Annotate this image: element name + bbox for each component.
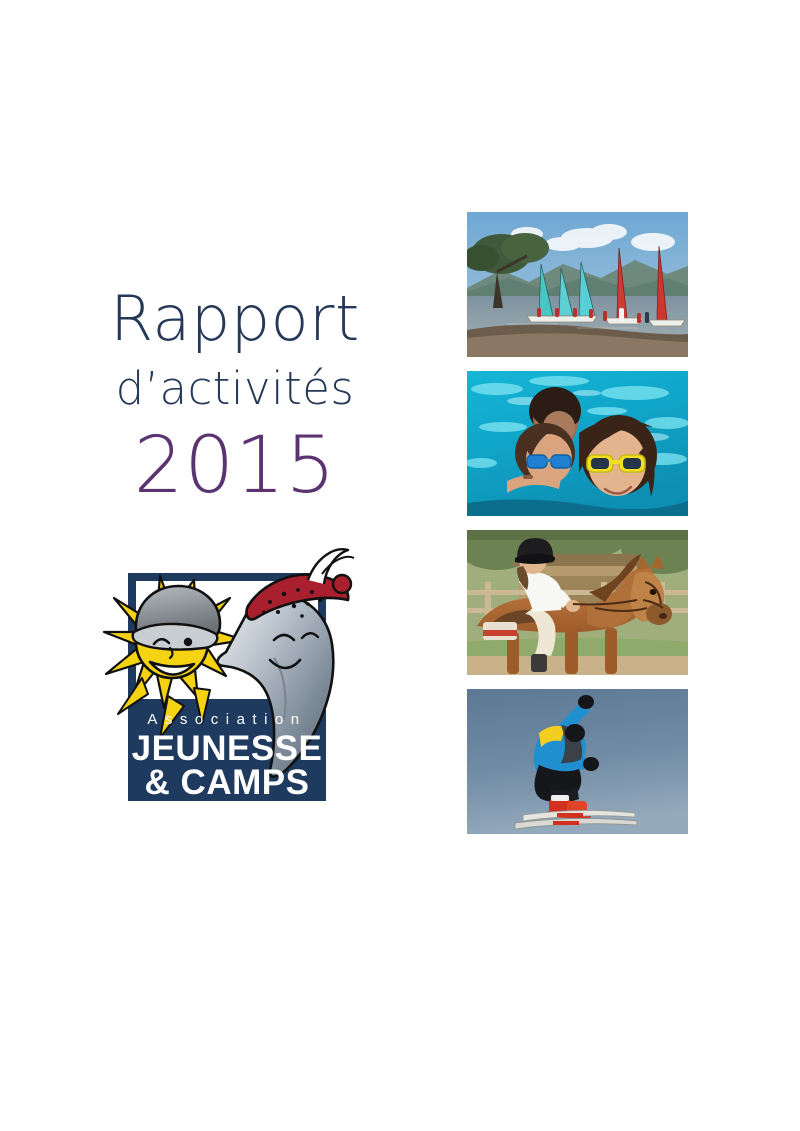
association-logo: Association JEUNESSE & CAMPS	[98, 528, 356, 813]
page-title: Rapport	[60, 288, 410, 350]
page-subtitle: d’activités	[60, 366, 410, 411]
report-year: 2015	[60, 427, 410, 505]
logo-name-line2: & CAMPS	[145, 763, 310, 802]
logo-association-word: Association	[147, 711, 306, 728]
report-cover-page: Rapport d’activités 2015	[0, 0, 800, 1131]
cover-photo-strip	[467, 212, 688, 834]
cover-title-block: Rapport d’activités 2015	[60, 288, 410, 505]
photo-horse-riding	[467, 530, 688, 675]
photo-skiing	[467, 689, 688, 834]
photo-swimming-pool	[467, 371, 688, 516]
logo-text: Association JEUNESSE & CAMPS	[132, 711, 323, 802]
photo-sailing	[467, 212, 688, 357]
